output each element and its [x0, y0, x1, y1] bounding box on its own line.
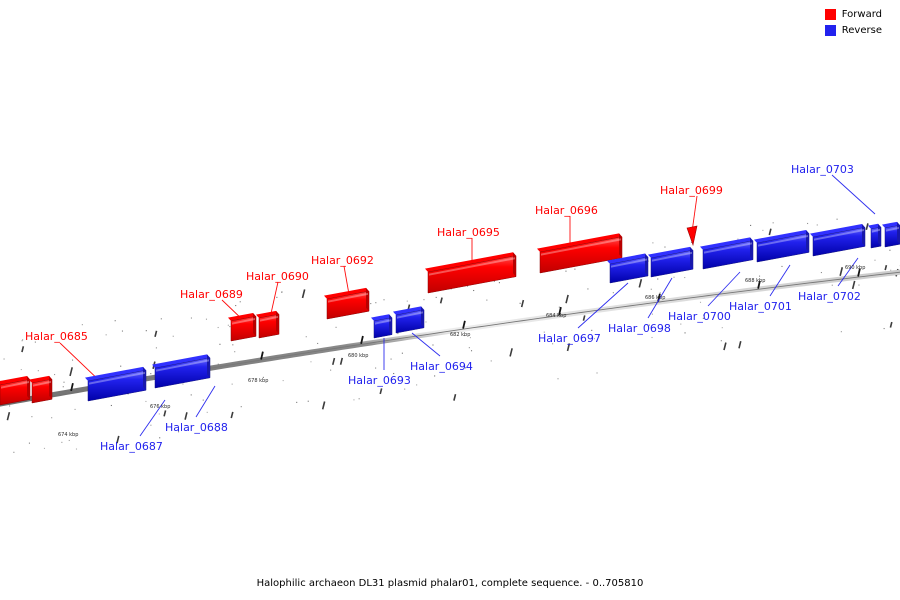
gene-label-halar_0698[interactable]: Halar_0698	[608, 322, 671, 335]
gene-feature[interactable]	[29, 376, 52, 403]
legend-reverse: Reverse	[825, 24, 882, 37]
gene-label-halar_0685[interactable]: Halar_0685	[25, 330, 88, 343]
gene-feature[interactable]	[228, 313, 256, 341]
gene-label-halar_0690[interactable]: Halar_0690	[246, 270, 309, 283]
ruler-label: 682 kbp	[450, 332, 470, 338]
ruler-label: 678 kbp	[248, 378, 268, 384]
ruler-label: 686 kbp	[645, 295, 665, 301]
ruler-label: 688 kbp	[745, 278, 765, 284]
gene-feature[interactable]	[882, 222, 900, 247]
label-leader-line	[196, 386, 215, 417]
legend-forward-label: Forward	[842, 9, 882, 20]
gene-feature[interactable]	[648, 247, 693, 277]
gene-label-halar_0687[interactable]: Halar_0687	[100, 440, 163, 453]
gene-label-halar_0693[interactable]: Halar_0693	[348, 374, 411, 387]
gene-feature[interactable]	[700, 237, 753, 269]
ruler-label: 680 kbp	[348, 353, 368, 359]
gene-feature[interactable]	[152, 354, 210, 388]
gene-label-halar_0692[interactable]: Halar_0692	[311, 254, 374, 267]
gene-feature[interactable]	[754, 230, 809, 262]
legend: ForwardReverse	[825, 8, 882, 40]
gene-label-halar_0696[interactable]: Halar_0696	[535, 204, 598, 217]
legend-forward: Forward	[825, 8, 882, 21]
gene-label-halar_0701[interactable]: Halar_0701	[729, 300, 792, 313]
diagram-caption: Halophilic archaeon DL31 plasmid phalar0…	[0, 578, 900, 589]
gene-feature[interactable]	[324, 288, 369, 319]
ruler-label: 674 kbp	[58, 432, 78, 438]
gene-feature[interactable]	[868, 224, 881, 248]
gene-feature[interactable]	[687, 226, 697, 245]
label-leader-line	[832, 175, 875, 214]
gene-feature[interactable]	[425, 252, 516, 293]
ruler-label: 676 kbp	[150, 404, 170, 410]
legend-reverse-swatch	[825, 25, 836, 36]
gene-feature[interactable]	[371, 314, 392, 338]
legend-forward-swatch	[825, 9, 836, 20]
label-leader-line	[770, 265, 790, 296]
genome-diagram-canvas: Halar_0685Halar_0687Halar_0688Halar_0689…	[0, 0, 900, 600]
gene-feature-layer	[0, 222, 900, 405]
gene-feature[interactable]	[256, 311, 279, 338]
gene-label-halar_0694[interactable]: Halar_0694	[410, 360, 473, 373]
gene-label-halar_0699[interactable]: Halar_0699	[660, 184, 723, 197]
gene-label-halar_0689[interactable]: Halar_0689	[180, 288, 243, 301]
gene-feature[interactable]	[537, 233, 622, 273]
ruler-label: 690 kbp	[845, 265, 865, 271]
gene-label-halar_0697[interactable]: Halar_0697	[538, 332, 601, 345]
gene-label-halar_0688[interactable]: Halar_0688	[165, 421, 228, 434]
gene-feature[interactable]	[85, 367, 146, 401]
ruler-label: 684 kbp	[546, 313, 566, 319]
gene-feature[interactable]	[393, 306, 424, 333]
gene-label-halar_0703[interactable]: Halar_0703	[791, 163, 854, 176]
gene-label-halar_0702[interactable]: Halar_0702	[798, 290, 861, 303]
gene-feature[interactable]	[810, 224, 865, 256]
gene-label-halar_0700[interactable]: Halar_0700	[668, 310, 731, 323]
gene-label-halar_0695[interactable]: Halar_0695	[437, 226, 500, 239]
legend-reverse-label: Reverse	[842, 25, 882, 36]
